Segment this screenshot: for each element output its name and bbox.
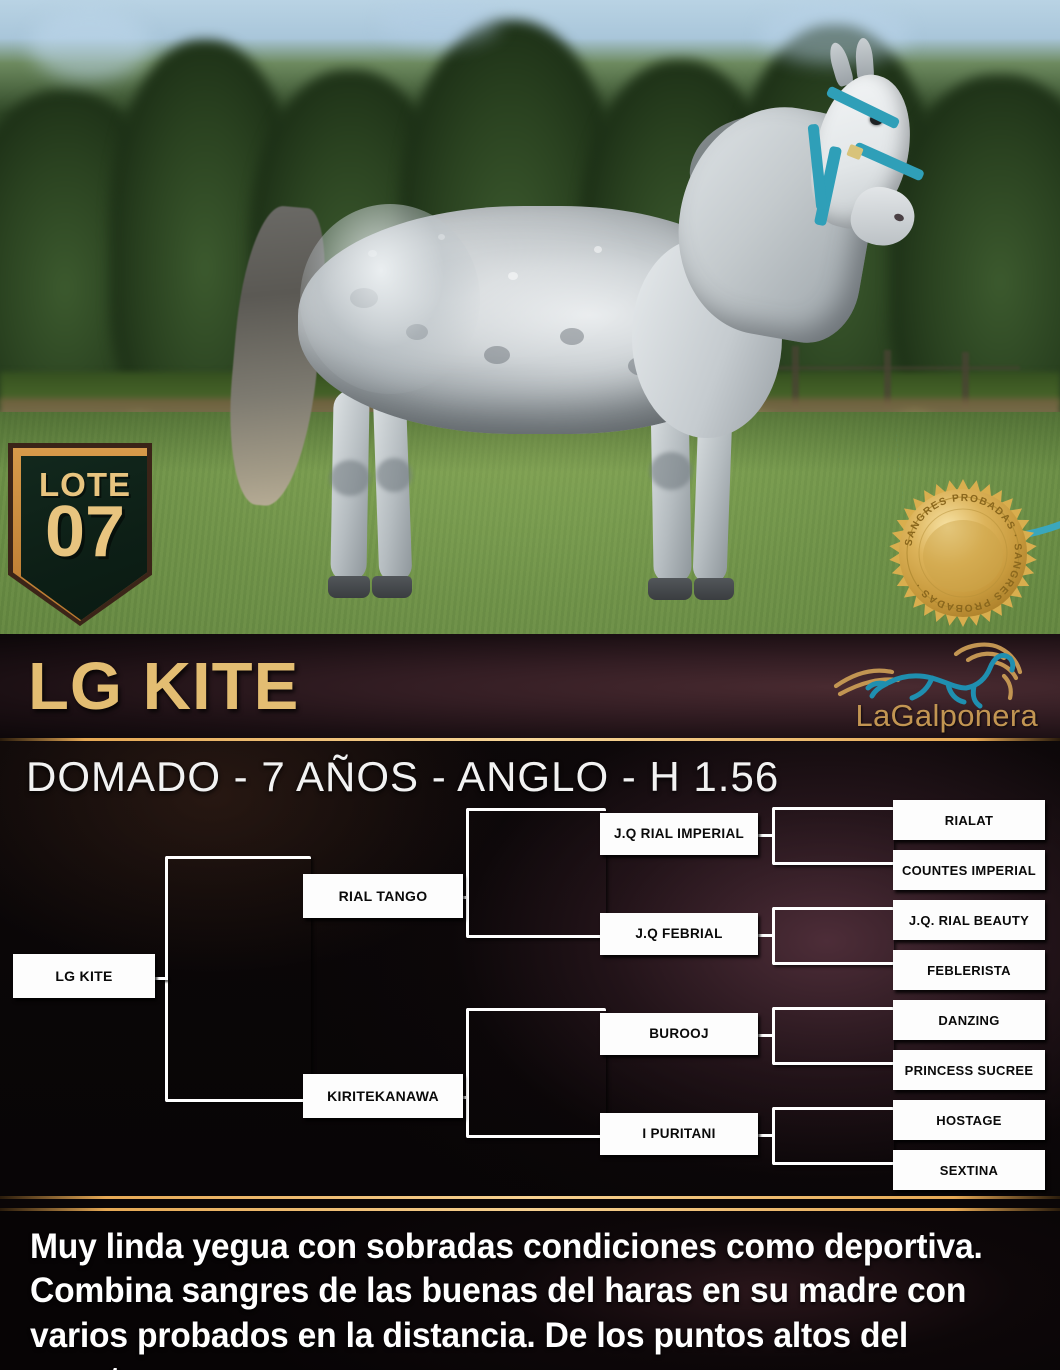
pedigree-box-ggp-4[interactable]: FEBLERISTA [893, 950, 1045, 990]
pedigree-box-ggp-6[interactable]: PRINCESS SUCREE [893, 1050, 1045, 1090]
pedigree-box-ggp-2[interactable]: COUNTES IMPERIAL [893, 850, 1045, 890]
main-panel: DOMADO - 7 AÑOS - ANGLO - H 1.56 [0, 741, 1060, 1196]
bracket-gp2 [772, 907, 894, 965]
horse-hindquarter [300, 204, 480, 394]
lot-catalog-page: LOTE 07 [0, 0, 1060, 1370]
pedigree-box-gp-2[interactable]: J.Q FEBRIAL [600, 913, 758, 955]
bracket-gp1 [772, 807, 894, 865]
gold-divider-bottom-1 [0, 1196, 1060, 1199]
page-title: LG KITE [28, 648, 299, 725]
bracket-dam-to-grandparents [466, 1008, 606, 1138]
pedigree-box-ggp-8[interactable]: SEXTINA [893, 1150, 1045, 1190]
pedigree-box-ggp-7[interactable]: HOSTAGE [893, 1100, 1045, 1140]
pedigree-box-gp-1[interactable]: J.Q RIAL IMPERIAL [600, 813, 758, 855]
lot-badge-number: 07 [21, 498, 149, 566]
sangres-probadas-seal: SANGRES PROBADAS · SANGRES PROBADAS · [888, 478, 1038, 628]
pedigree-chart: LG KITE RIAL TANGO KIRITEKANAWA J.Q RIAL… [0, 741, 1060, 1196]
pedigree-box-sire[interactable]: RIAL TANGO [303, 874, 463, 918]
pedigree-box-ggp-3[interactable]: J.Q. RIAL BEAUTY [893, 900, 1045, 940]
lot-description: Muy linda yegua con sobradas condiciones… [30, 1225, 1002, 1370]
pedigree-box-root[interactable]: LG KITE [13, 954, 155, 998]
pedigree-box-ggp-5[interactable]: DANZING [893, 1000, 1045, 1040]
pedigree-box-gp-3[interactable]: BUROOJ [600, 1013, 758, 1055]
bracket-sire-to-grandparents [466, 808, 606, 938]
pedigree-box-ggp-1[interactable]: RIALAT [893, 800, 1045, 840]
horse-figure [180, 28, 980, 618]
pedigree-box-gp-4[interactable]: I PURITANI [600, 1113, 758, 1155]
title-band: LG KITE [0, 634, 1060, 740]
pedigree-box-dam[interactable]: KIRITEKANAWA [303, 1074, 463, 1118]
bracket-gp4 [772, 1107, 894, 1165]
brand-name: LaGalponera [828, 698, 1038, 734]
description-panel: Muy linda yegua con sobradas condiciones… [0, 1211, 1060, 1370]
bracket-root-to-parents [165, 856, 311, 1102]
brand-logo: LaGalponera [828, 642, 1038, 736]
bracket-gp3 [772, 1007, 894, 1065]
horse-photo: LOTE 07 [0, 0, 1060, 634]
